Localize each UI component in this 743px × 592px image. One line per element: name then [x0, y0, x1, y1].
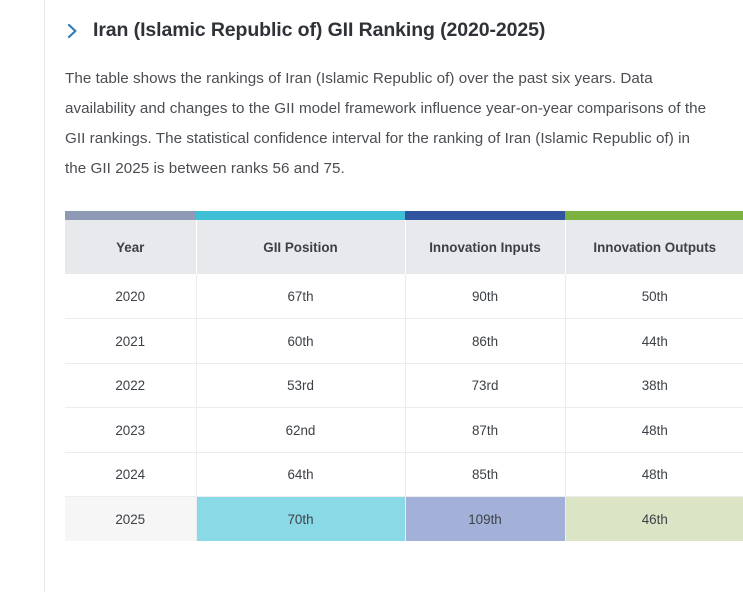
column-header-innovation-outputs: Innovation Outputs — [565, 220, 743, 274]
cell-innovation_inputs: 86th — [405, 319, 565, 364]
table-row: 202464th85th48th — [65, 452, 743, 497]
column-color-bars — [65, 211, 743, 220]
table-header-row: Year GII Position Innovation Inputs Inno… — [65, 220, 743, 274]
cell-innovation_inputs: 87th — [405, 408, 565, 453]
color-bar-outputs — [565, 211, 743, 220]
cell-year: 2023 — [65, 408, 196, 453]
chevron-right-icon[interactable] — [65, 21, 79, 41]
ranking-card: Iran (Islamic Republic of) GII Ranking (… — [44, 0, 743, 592]
cell-innovation_outputs: 50th — [565, 274, 743, 319]
color-bar-gii — [196, 211, 405, 220]
table-row: 202067th90th50th — [65, 274, 743, 319]
column-header-innovation-inputs: Innovation Inputs — [405, 220, 565, 274]
cell-innovation_outputs: 38th — [565, 363, 743, 408]
card-inner: Iran (Islamic Republic of) GII Ranking (… — [45, 0, 743, 541]
table-row: 202253rd73rd38th — [65, 363, 743, 408]
cell-year: 2021 — [65, 319, 196, 364]
table-row: 202570th109th46th — [65, 497, 743, 542]
cell-gii_position: 62nd — [196, 408, 405, 453]
color-bar-year — [65, 211, 196, 220]
color-bar-inputs — [405, 211, 565, 220]
cell-innovation_inputs: 73rd — [405, 363, 565, 408]
cell-year: 2022 — [65, 363, 196, 408]
page-root: Iran (Islamic Republic of) GII Ranking (… — [0, 0, 743, 592]
gii-ranking-table: Year GII Position Innovation Inputs Inno… — [65, 211, 743, 541]
column-header-year: Year — [65, 220, 196, 274]
cell-gii_position: 67th — [196, 274, 405, 319]
table-head: Year GII Position Innovation Inputs Inno… — [65, 211, 743, 274]
cell-gii_position: 64th — [196, 452, 405, 497]
table-row: 202160th86th44th — [65, 319, 743, 364]
cell-gii_position: 60th — [196, 319, 405, 364]
table-body: 202067th90th50th202160th86th44th202253rd… — [65, 274, 743, 541]
card-header[interactable]: Iran (Islamic Republic of) GII Ranking (… — [65, 19, 743, 42]
cell-year: 2020 — [65, 274, 196, 319]
cell-innovation_inputs: 109th — [405, 497, 565, 542]
cell-year: 2025 — [65, 497, 196, 542]
ranking-table-wrapper: Year GII Position Innovation Inputs Inno… — [65, 211, 743, 541]
cell-innovation_inputs: 90th — [405, 274, 565, 319]
cell-innovation_inputs: 85th — [405, 452, 565, 497]
page-title: Iran (Islamic Republic of) GII Ranking (… — [93, 19, 545, 42]
cell-gii_position: 53rd — [196, 363, 405, 408]
card-description: The table shows the rankings of Iran (Is… — [65, 64, 707, 184]
cell-year: 2024 — [65, 452, 196, 497]
table-row: 202362nd87th48th — [65, 408, 743, 453]
cell-gii_position: 70th — [196, 497, 405, 542]
column-header-gii-position: GII Position — [196, 220, 405, 274]
cell-innovation_outputs: 46th — [565, 497, 743, 542]
cell-innovation_outputs: 48th — [565, 452, 743, 497]
cell-innovation_outputs: 48th — [565, 408, 743, 453]
cell-innovation_outputs: 44th — [565, 319, 743, 364]
